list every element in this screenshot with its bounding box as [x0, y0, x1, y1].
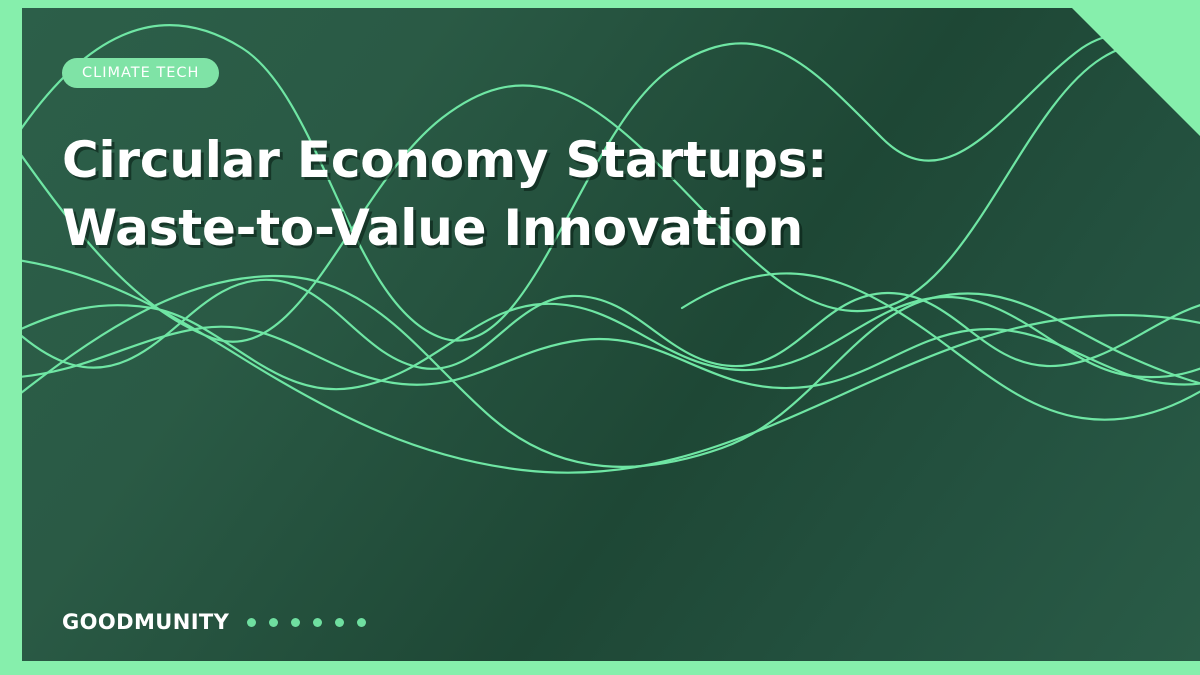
dot	[335, 618, 344, 627]
dot	[291, 618, 300, 627]
dot	[313, 618, 322, 627]
category-badge: CLIMATE TECH	[62, 58, 219, 88]
dot-separator	[247, 618, 366, 627]
title-line-2: Waste-to-Value Innovation	[62, 194, 1062, 262]
category-badge-label: CLIMATE TECH	[82, 66, 199, 81]
footer-brand: GOODMUNITY	[62, 612, 366, 633]
dot	[357, 618, 366, 627]
brand-name: GOODMUNITY	[62, 612, 229, 633]
wave-pattern-background	[22, 8, 1200, 661]
card-panel: CLIMATE TECH Circular Economy Startups: …	[22, 8, 1200, 661]
title-line-1: Circular Economy Startups:	[62, 126, 1062, 194]
page-title: Circular Economy Startups: Waste-to-Valu…	[62, 126, 1062, 262]
social-card: CLIMATE TECH Circular Economy Startups: …	[0, 0, 1200, 675]
dot	[269, 618, 278, 627]
dot	[247, 618, 256, 627]
